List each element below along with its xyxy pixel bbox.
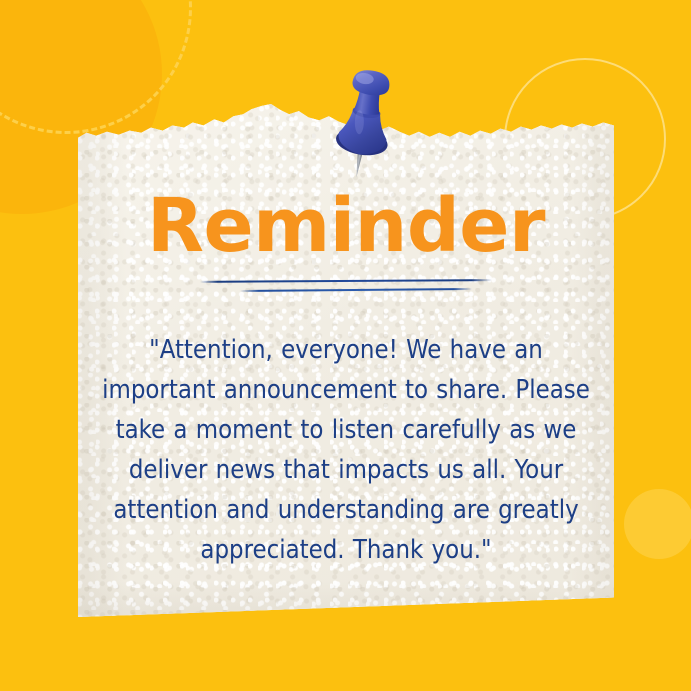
reminder-poster: Reminder "Attention, everyone! We have a… [0,0,691,691]
decor-circle-bottom-right [624,489,691,559]
pin-needle [354,151,363,177]
divider-line-top [200,279,492,283]
push-pin-icon [324,66,404,184]
announcement-body-text: "Attention, everyone! We have an importa… [93,298,599,570]
divider-line-bottom [240,288,472,292]
title-divider [196,276,496,298]
